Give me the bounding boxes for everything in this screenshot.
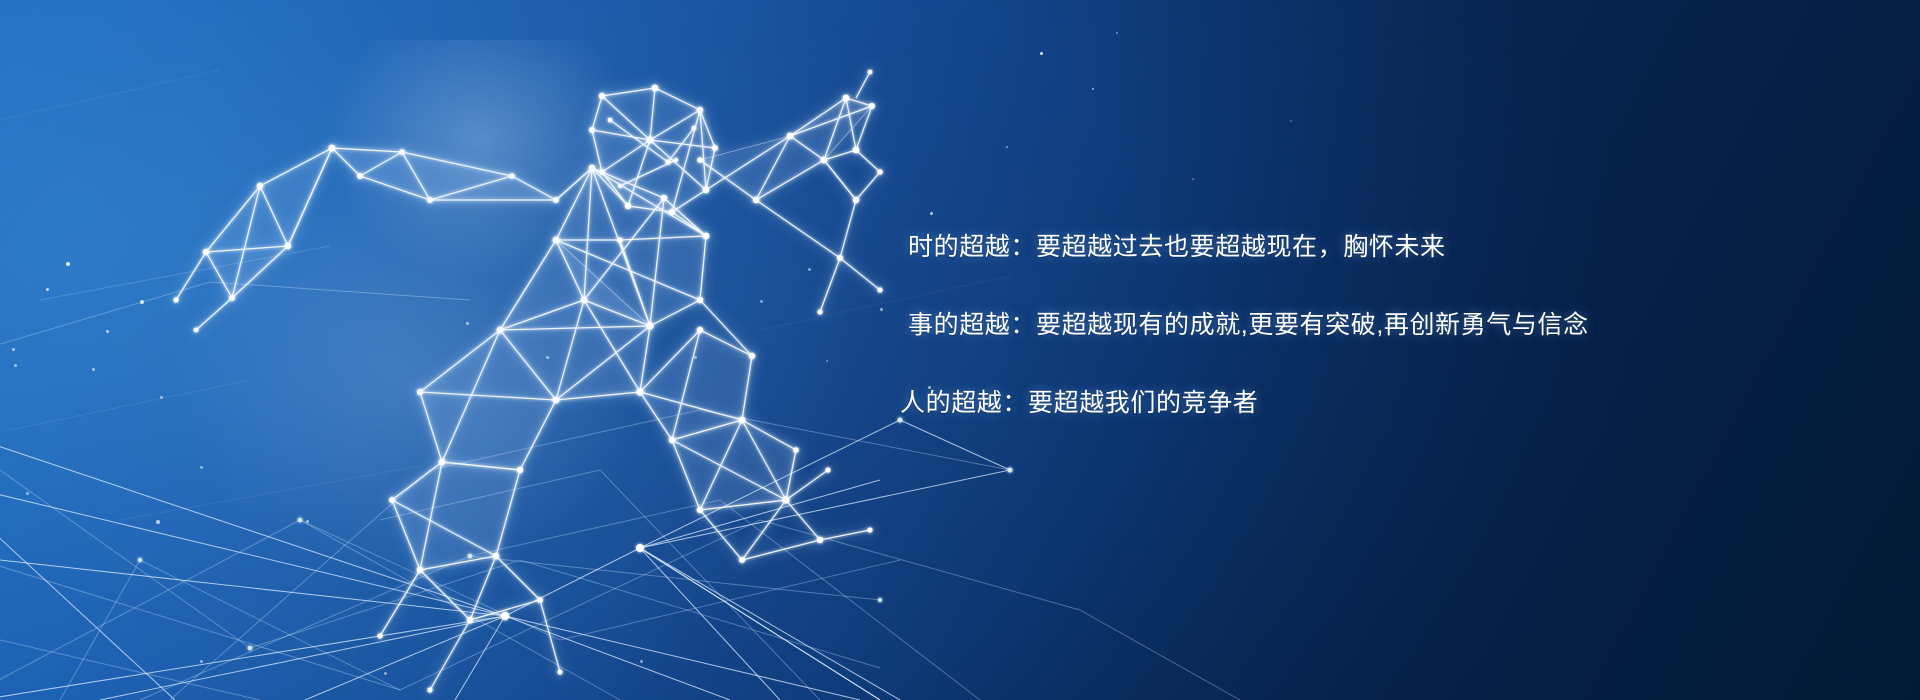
- headline-line-time: 时的超越：要超越过去也要超越现在，胸怀未来: [908, 232, 1668, 262]
- headline-line-achievement: 事的超越：要超越现有的成就,更要有突破,再创新勇气与信念: [908, 310, 1668, 340]
- runner-figure-wireframe: [173, 70, 882, 693]
- headline-line-people: 人的超越：要超越我们的竞争者: [900, 388, 1668, 418]
- hero-banner: 时的超越：要超越过去也要超越现在，胸怀未来 事的超越：要超越现有的成就,更要有突…: [0, 0, 1920, 700]
- background-junction-nodes: [138, 417, 1013, 650]
- headline-copy-block: 时的超越：要超越过去也要超越现在，胸怀未来 事的超越：要超越现有的成就,更要有突…: [908, 232, 1668, 418]
